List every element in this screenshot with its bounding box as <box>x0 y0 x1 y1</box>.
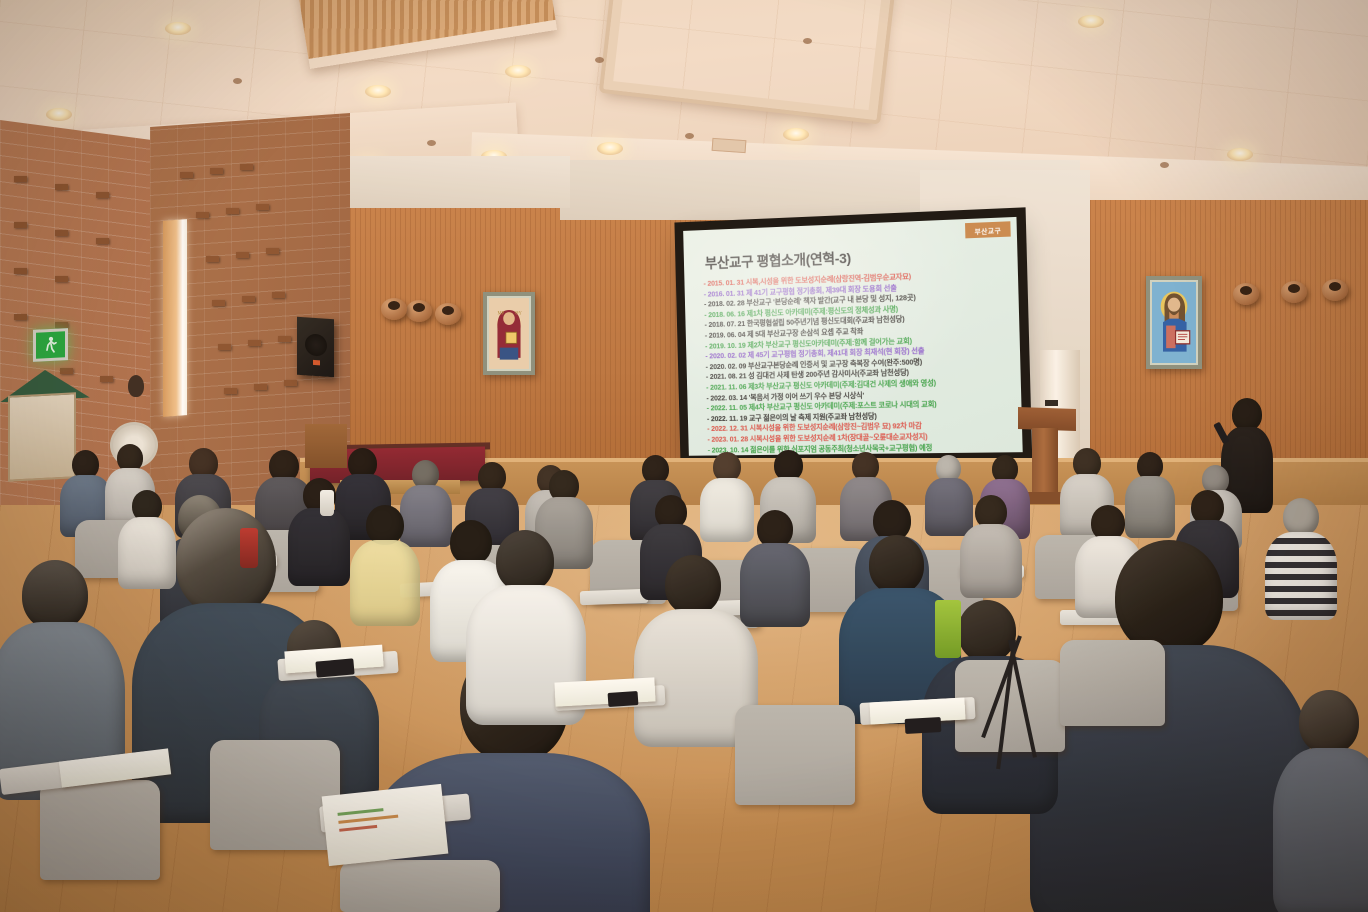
head <box>1299 690 1359 754</box>
christ-pantocrator-icon-art <box>1152 282 1196 363</box>
audience-member <box>740 510 810 618</box>
brick-stud <box>278 336 291 342</box>
ceiling-downlight <box>1078 15 1104 28</box>
handout-paper <box>322 784 449 866</box>
audience-member <box>960 495 1022 591</box>
torso <box>960 524 1022 598</box>
chair-tablet-arm <box>580 589 648 605</box>
chair[interactable] <box>1060 640 1165 726</box>
ceramic-pot-ornament <box>381 298 407 320</box>
brick-stud <box>224 388 237 394</box>
exit-sign-icon <box>33 328 68 362</box>
brick-stud <box>212 300 225 306</box>
brick-stud <box>96 192 109 198</box>
ceramic-pot-ornament <box>406 300 432 322</box>
ceiling-downlight <box>165 22 191 35</box>
ceiling-downlight <box>505 65 531 78</box>
brick-stud <box>236 252 249 258</box>
narrow-window <box>163 219 187 417</box>
head <box>958 600 1016 662</box>
slide-badge: 부산교구 <box>965 221 1011 238</box>
ceiling-sprinkler <box>803 38 812 44</box>
ceiling-sprinkler <box>427 140 436 146</box>
presentation-slide: 부산교구 부산교구 평협소개(연혁-3) - 2015. 01. 31 시복,시… <box>683 217 1023 456</box>
ceiling-downlight <box>783 128 809 141</box>
brick-stud <box>226 208 239 214</box>
chair[interactable] <box>40 780 160 880</box>
head <box>366 505 404 545</box>
brick-stud <box>60 368 73 374</box>
torso-striped <box>1265 532 1337 620</box>
ceiling-downlight <box>365 85 391 98</box>
smartphone[interactable] <box>315 658 354 677</box>
head <box>1115 540 1223 655</box>
brick-stud <box>14 176 27 182</box>
brick-stud <box>180 172 193 178</box>
paper-cup <box>320 490 334 516</box>
podium-microphone <box>1045 400 1058 406</box>
brick-stud <box>254 384 267 390</box>
head <box>496 530 554 592</box>
audience-member <box>350 505 420 615</box>
ceramic-pot-ornament <box>1322 279 1348 301</box>
brick-stud <box>266 248 279 254</box>
brick-stud <box>284 380 297 386</box>
brick-stud <box>248 340 261 346</box>
water-bottle <box>935 600 961 658</box>
ceiling-sprinkler <box>595 57 604 63</box>
svg-text:ΘY: ΘY <box>515 311 522 316</box>
brick-stud <box>206 256 219 262</box>
brick-stud <box>14 268 27 274</box>
ceramic-pot-ornament <box>1281 281 1307 303</box>
brick-stud <box>14 222 27 228</box>
slide-title: 부산교구 평협소개(연혁-3) <box>705 248 851 273</box>
brick-stud <box>272 292 285 298</box>
ceiling-sprinkler <box>233 78 242 84</box>
ceramic-pot-ornament <box>1233 283 1259 305</box>
thermos-cup <box>240 528 258 568</box>
brick-stud <box>14 314 27 320</box>
brick-stud <box>55 276 68 282</box>
wall-header-band-left <box>330 156 570 208</box>
wall-speaker-icon <box>297 317 334 378</box>
theotokos-icon: MP ΘY <box>483 292 535 375</box>
torso <box>1273 748 1368 912</box>
brick-stud <box>240 164 253 170</box>
chair[interactable] <box>210 740 340 850</box>
head <box>1283 498 1319 536</box>
wall-lamp <box>128 375 144 397</box>
audience-member <box>1285 690 1368 912</box>
conference-hall-photo: MP ΘY 부산교구 부산교구 평협소개(연혁-3) - 2015. 01. 3… <box>0 0 1368 912</box>
torso <box>350 540 420 626</box>
brick-stud <box>256 204 269 210</box>
smartphone[interactable] <box>905 717 942 734</box>
head <box>22 560 88 630</box>
brick-stud <box>55 322 68 328</box>
audience-member-foreground <box>1060 540 1275 912</box>
slide-bullet-list: - 2015. 01. 31 시복,시성을 위한 도보성지순례(삼랑진역-김범우… <box>703 268 1014 455</box>
ceiling-sprinkler <box>685 133 694 139</box>
head <box>869 535 924 594</box>
brick-stud <box>55 230 68 236</box>
ceiling-downlight <box>46 108 72 121</box>
svg-text:MP: MP <box>497 311 504 316</box>
brick-stud <box>196 212 209 218</box>
theotokos-icon-art: MP ΘY <box>489 298 529 369</box>
head <box>665 555 721 615</box>
running-man-glyph <box>43 336 59 355</box>
christ-pantocrator-icon <box>1146 276 1202 369</box>
projection-screen: 부산교구 부산교구 평협소개(연혁-3) - 2015. 01. 31 시복,시… <box>683 217 1023 456</box>
head <box>176 508 276 616</box>
brick-stud <box>55 184 68 190</box>
brick-stud <box>242 296 255 302</box>
brick-stud <box>96 238 109 244</box>
torso <box>740 543 810 627</box>
brick-stud <box>100 376 113 382</box>
ceramic-pot-ornament <box>435 303 461 325</box>
audience-member <box>1265 498 1337 610</box>
chair[interactable] <box>735 705 855 805</box>
lectern-stem <box>1032 428 1058 496</box>
smartphone[interactable] <box>608 691 639 707</box>
brick-stud <box>218 344 231 350</box>
chair[interactable] <box>340 860 500 912</box>
brick-stud <box>210 168 223 174</box>
